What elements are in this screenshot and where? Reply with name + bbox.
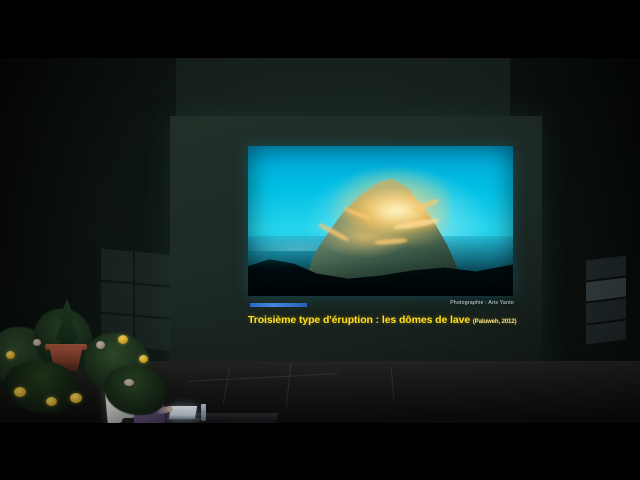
window-pane — [586, 299, 626, 323]
right-wall-window — [586, 256, 626, 345]
slide-title-reference: (Paluweh, 2012) — [473, 319, 517, 325]
yellow-flower — [139, 355, 148, 363]
slide-source-link[interactable] — [250, 303, 307, 307]
video-frame: Photographie : Aris Yanto Troisième type… — [0, 0, 640, 480]
yellow-flower — [70, 393, 82, 403]
yellow-flower — [46, 397, 57, 406]
window-pane — [586, 256, 626, 280]
slide-photograph — [248, 146, 513, 296]
yellow-flower — [6, 351, 15, 359]
conference-hall: Photographie : Aris Yanto Troisième type… — [0, 58, 640, 423]
plant-bush — [104, 365, 166, 415]
water-bottle — [201, 404, 206, 421]
letterbox-top — [0, 0, 640, 58]
white-flower — [33, 339, 41, 346]
projection-screen: Photographie : Aris Yanto Troisième type… — [170, 116, 542, 378]
white-flower — [96, 341, 105, 349]
floor-tile-line — [188, 373, 338, 382]
slide-title-main: Troisième type d'éruption : les dômes de… — [248, 314, 470, 326]
plant-bush — [4, 361, 78, 413]
floor-tile-line — [286, 363, 292, 407]
slide-title: Troisième type d'éruption : les dômes de… — [248, 314, 542, 326]
floor-tile-line — [391, 367, 394, 401]
window-pane — [586, 277, 626, 301]
yellow-flower — [118, 335, 128, 344]
window-pane — [101, 249, 133, 282]
white-flower — [124, 379, 134, 386]
laptop-screen[interactable] — [169, 406, 197, 419]
letterbox-bottom — [0, 423, 640, 480]
photo-vignette — [248, 146, 513, 296]
yellow-flower — [14, 387, 26, 397]
stage-plants — [0, 303, 170, 423]
floor-tile-line — [223, 365, 231, 405]
slide-photo-credit: Photographie : Aris Yanto — [450, 300, 514, 306]
projected-slide: Photographie : Aris Yanto Troisième type… — [170, 116, 542, 378]
